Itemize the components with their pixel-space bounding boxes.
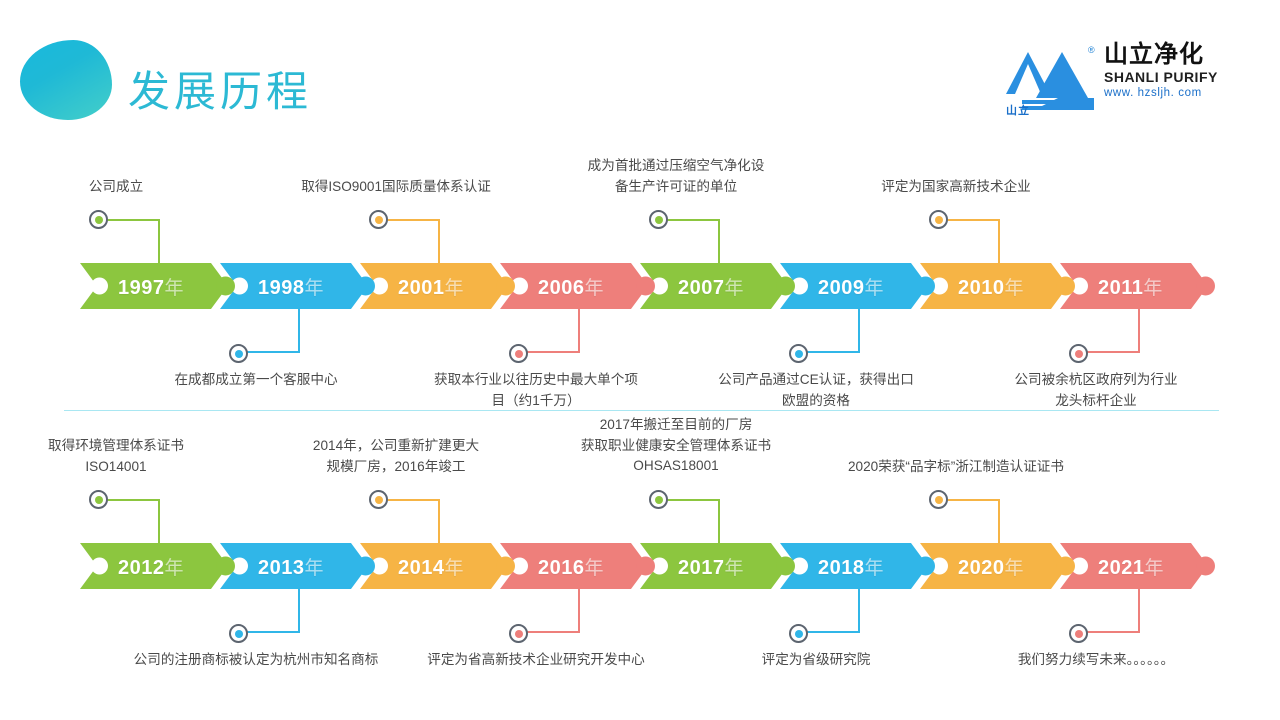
milestone-year-label: 2016年 — [538, 553, 604, 580]
milestone-caption-2001: 取得ISO9001国际质量体系认证 — [266, 177, 526, 198]
logo-name-cn: 山立净化 — [1104, 42, 1224, 69]
decorative-blob — [20, 40, 112, 120]
milestone-marker-dot[interactable] — [369, 210, 388, 229]
milestone-caption-2009: 公司产品通过CE认证，获得出口 欧盟的资格 — [686, 370, 946, 411]
timeline-row-2: 2012年2013年2014年2016年2017年2018年2020年2021年 — [0, 543, 1280, 589]
milestone-year-number: 2013 — [258, 557, 305, 579]
milestone-year-number: 1998 — [258, 277, 305, 299]
milestone-year-number: 2021 — [1098, 557, 1145, 579]
milestone-marker-dot[interactable] — [89, 210, 108, 229]
milestone-year-label: 2021年 — [1098, 553, 1164, 580]
milestone-marker-dot[interactable] — [229, 344, 248, 363]
milestone-year-number: 2006 — [538, 277, 585, 299]
marker-inner-dot — [795, 630, 803, 638]
page-title: 发展历程 — [128, 58, 312, 119]
timeline-milestone-2013[interactable]: 2013年 — [220, 543, 368, 589]
milestone-marker-dot[interactable] — [649, 210, 668, 229]
timeline-milestone-1998[interactable]: 1998年 — [220, 263, 368, 309]
milestone-caption-2020: 2020荣获“品字标”浙江制造认证证书 — [826, 457, 1086, 478]
milestone-marker-dot[interactable] — [929, 210, 948, 229]
milestone-connector-knob — [356, 557, 375, 576]
milestone-year-number: 2016 — [538, 557, 585, 579]
milestone-caption-2014: 2014年，公司重新扩建更大 规模厂房，2016年竣工 — [266, 436, 526, 477]
marker-inner-dot — [655, 216, 663, 224]
milestone-caption-2018: 评定为省级研究院 — [686, 650, 946, 671]
milestone-year-number: 1997 — [118, 277, 165, 299]
milestone-caption-2013: 公司的注册商标被认定为杭州市知名商标 — [126, 650, 386, 671]
milestone-connector-knob — [1196, 557, 1215, 576]
marker-inner-dot — [795, 350, 803, 358]
timeline-milestone-2017[interactable]: 2017年 — [640, 543, 788, 589]
milestone-year-number: 2018 — [818, 557, 865, 579]
milestone-marker-dot[interactable] — [509, 624, 528, 643]
milestone-caption-2007: 成为首批通过压缩空气净化设 备生产许可证的单位 — [546, 156, 806, 197]
milestone-marker-dot[interactable] — [509, 344, 528, 363]
marker-inner-dot — [935, 496, 943, 504]
milestone-year-suffix: 年 — [165, 278, 185, 299]
milestone-year-suffix: 年 — [725, 558, 745, 579]
milestone-year-label: 2009年 — [818, 273, 884, 300]
milestone-marker-dot[interactable] — [789, 624, 808, 643]
milestone-year-number: 2009 — [818, 277, 865, 299]
milestone-marker-dot[interactable] — [1069, 624, 1088, 643]
marker-inner-dot — [375, 496, 383, 504]
milestone-year-label: 2012年 — [118, 553, 184, 580]
milestone-year-suffix: 年 — [1005, 558, 1025, 579]
timeline-milestone-2018[interactable]: 2018年 — [780, 543, 928, 589]
timeline-milestone-2020[interactable]: 2020年 — [920, 543, 1068, 589]
milestone-year-label: 2010年 — [958, 273, 1024, 300]
marker-inner-dot — [95, 216, 103, 224]
milestone-connector-knob — [916, 557, 935, 576]
milestone-year-number: 2001 — [398, 277, 445, 299]
milestone-year-number: 2011 — [1098, 277, 1143, 299]
milestone-year-label: 2006年 — [538, 273, 604, 300]
milestone-year-label: 2018年 — [818, 553, 884, 580]
milestone-connector-socket — [91, 558, 108, 575]
timeline-milestone-2021[interactable]: 2021年 — [1060, 543, 1208, 589]
slide-root: 发展历程 ® 山立 山立净化 SHANLI PURIFY www. hzsljh… — [0, 0, 1280, 720]
marker-inner-dot — [1075, 350, 1083, 358]
milestone-caption-2016: 评定为省高新技术企业研究开发中心 — [406, 650, 666, 671]
marker-inner-dot — [235, 350, 243, 358]
marker-inner-dot — [655, 496, 663, 504]
marker-inner-dot — [515, 630, 523, 638]
milestone-connector-knob — [216, 277, 235, 296]
marker-inner-dot — [935, 216, 943, 224]
logo-mark-label: 山立 — [1006, 102, 1030, 118]
timeline-milestone-2001[interactable]: 2001年 — [360, 263, 508, 309]
milestone-year-label: 2014年 — [398, 553, 464, 580]
timeline-milestone-2007[interactable]: 2007年 — [640, 263, 788, 309]
milestone-year-suffix: 年 — [305, 558, 325, 579]
milestone-connector-socket — [91, 278, 108, 295]
marker-inner-dot — [235, 630, 243, 638]
milestone-year-label: 1997年 — [118, 273, 184, 300]
milestone-connector-knob — [1056, 557, 1075, 576]
milestone-marker-dot[interactable] — [929, 490, 948, 509]
milestone-year-number: 2012 — [118, 557, 165, 579]
milestone-year-label: 2020年 — [958, 553, 1024, 580]
milestone-year-suffix: 年 — [865, 278, 885, 299]
timeline-milestone-2006[interactable]: 2006年 — [500, 263, 648, 309]
milestone-marker-dot[interactable] — [229, 624, 248, 643]
company-logo: ® 山立 山立净化 SHANLI PURIFY www. hzsljh. com — [1004, 42, 1222, 124]
milestone-marker-dot[interactable] — [369, 490, 388, 509]
milestone-year-suffix: 年 — [865, 558, 885, 579]
milestone-connector-knob — [356, 277, 375, 296]
milestone-year-suffix: 年 — [585, 278, 605, 299]
milestone-year-number: 2017 — [678, 557, 725, 579]
milestone-connector-knob — [916, 277, 935, 296]
milestone-marker-dot[interactable] — [789, 344, 808, 363]
timeline-milestone-2009[interactable]: 2009年 — [780, 263, 928, 309]
milestone-connector-knob — [496, 557, 515, 576]
milestone-connector-knob — [636, 277, 655, 296]
milestone-year-number: 2020 — [958, 557, 1005, 579]
milestone-year-suffix: 年 — [585, 558, 605, 579]
milestone-connector-knob — [496, 277, 515, 296]
logo-website-url: www. hzsljh. com — [1104, 86, 1224, 102]
marker-inner-dot — [95, 496, 103, 504]
marker-inner-dot — [515, 350, 523, 358]
timeline-row-1: 1997年1998年2001年2006年2007年2009年2010年2011年 — [0, 263, 1280, 309]
milestone-year-label: 2017年 — [678, 553, 744, 580]
milestone-caption-2012: 取得环境管理体系证书 ISO14001 — [0, 436, 246, 477]
timeline-milestone-1997[interactable]: 1997年 — [80, 263, 228, 309]
timeline-milestone-2014[interactable]: 2014年 — [360, 543, 508, 589]
milestone-caption-1997: 公司成立 — [0, 177, 246, 198]
logo-name-en: SHANLI PURIFY — [1104, 69, 1224, 86]
milestone-year-label: 2001年 — [398, 273, 464, 300]
milestone-connector-knob — [1196, 277, 1215, 296]
milestone-year-number: 2010 — [958, 277, 1005, 299]
milestone-marker-dot[interactable] — [649, 490, 668, 509]
milestone-marker-dot[interactable] — [1069, 344, 1088, 363]
milestone-year-suffix: 年 — [305, 278, 325, 299]
milestone-year-label: 2011年 — [1098, 273, 1163, 300]
timeline-milestone-2012[interactable]: 2012年 — [80, 543, 228, 589]
milestone-caption-2011: 公司被余杭区政府列为行业 龙头标杆企业 — [966, 370, 1226, 411]
milestone-caption-2010: 评定为国家高新技术企业 — [826, 177, 1086, 198]
timeline-milestone-2010[interactable]: 2010年 — [920, 263, 1068, 309]
milestone-year-label: 2013年 — [258, 553, 324, 580]
milestone-caption-2021: 我们努力续写未来。。。。。。 — [966, 650, 1226, 671]
milestone-year-suffix: 年 — [1145, 558, 1165, 579]
milestone-connector-knob — [776, 277, 795, 296]
milestone-year-suffix: 年 — [725, 278, 745, 299]
milestone-year-number: 2007 — [678, 277, 725, 299]
milestone-connector-knob — [216, 557, 235, 576]
milestone-year-number: 2014 — [398, 557, 445, 579]
milestone-marker-dot[interactable] — [89, 490, 108, 509]
milestone-year-suffix: 年 — [165, 558, 185, 579]
milestone-connector-knob — [636, 557, 655, 576]
milestone-caption-1998: 在成都成立第一个客服中心 — [126, 370, 386, 391]
milestone-year-label: 2007年 — [678, 273, 744, 300]
milestone-year-suffix: 年 — [1005, 278, 1025, 299]
milestone-year-suffix: 年 — [1143, 278, 1163, 299]
timeline-milestone-2011[interactable]: 2011年 — [1060, 263, 1208, 309]
milestone-connector-knob — [1056, 277, 1075, 296]
milestone-year-suffix: 年 — [445, 558, 465, 579]
marker-inner-dot — [1075, 630, 1083, 638]
registered-mark-icon: ® — [1088, 46, 1095, 55]
milestone-caption-2006: 获取本行业以往历史中最大单个项 目（约1千万） — [406, 370, 666, 411]
milestone-caption-2017: 2017年搬迁至目前的厂房 获取职业健康安全管理体系证书 OHSAS18001 — [546, 415, 806, 477]
milestone-year-label: 1998年 — [258, 273, 324, 300]
milestone-year-suffix: 年 — [445, 278, 465, 299]
marker-inner-dot — [375, 216, 383, 224]
milestone-connector-knob — [776, 557, 795, 576]
timeline-milestone-2016[interactable]: 2016年 — [500, 543, 648, 589]
